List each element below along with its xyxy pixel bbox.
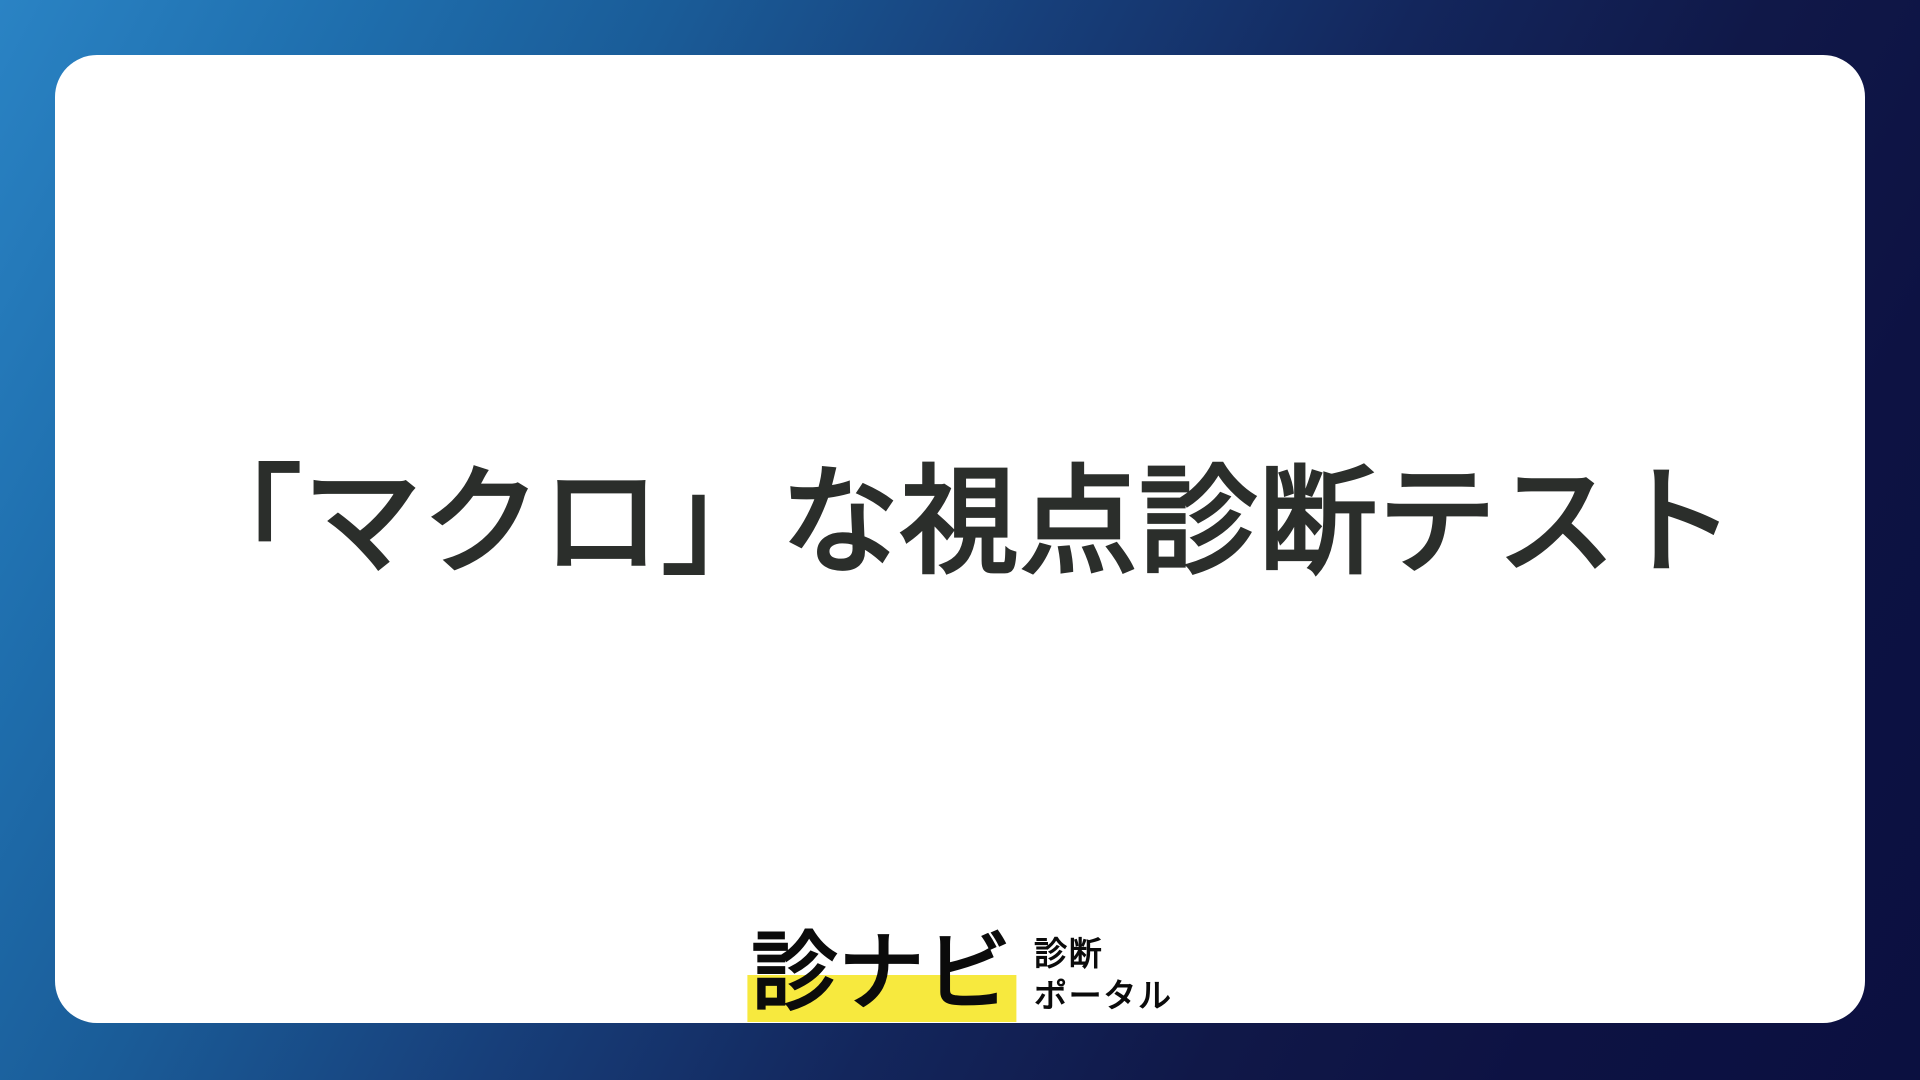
- brand-sublabel-line2: ポータル: [1034, 977, 1173, 1015]
- brand-logo: 診ナビ 診断 ポータル: [747, 927, 1172, 1020]
- brand-wordmark: 診ナビ: [747, 927, 1016, 1020]
- brand-sublabel: 診断 ポータル: [1034, 927, 1173, 1014]
- slide-canvas: 「マクロ」な視点診断テスト 診ナビ 診断 ポータル: [0, 0, 1920, 1080]
- brand-wordmark-text: 診ナビ: [751, 927, 1012, 1020]
- brand-sublabel-line1: 診断: [1034, 935, 1173, 973]
- headline-container: 「マクロ」な視点診断テスト: [55, 55, 1865, 1023]
- page-title: 「マクロ」な視点診断テスト: [184, 447, 1736, 598]
- content-card: 「マクロ」な視点診断テスト 診ナビ 診断 ポータル: [55, 55, 1865, 1023]
